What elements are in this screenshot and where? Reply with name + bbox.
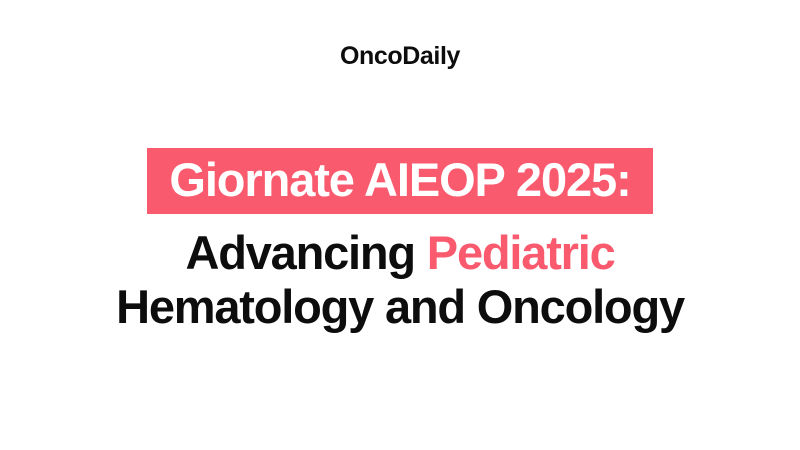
headline-line-3: Hematology and Oncology (0, 280, 800, 333)
headline-line2-accent: Pediatric (427, 226, 615, 279)
slide-canvas: OncoDaily Giornate AIEOP 2025: Advancing… (0, 0, 800, 450)
brand-logo: OncoDaily (0, 44, 800, 69)
headline-line2-plain: Advancing (185, 226, 426, 279)
headline-line-1: Giornate AIEOP 2025: (0, 148, 800, 214)
headline-line-2: Advancing Pediatric (0, 226, 800, 279)
headline-block: Giornate AIEOP 2025: Advancing Pediatric… (0, 148, 800, 333)
brand-name: OncoDaily (340, 44, 460, 69)
headline-banner: Giornate AIEOP 2025: (147, 148, 652, 214)
